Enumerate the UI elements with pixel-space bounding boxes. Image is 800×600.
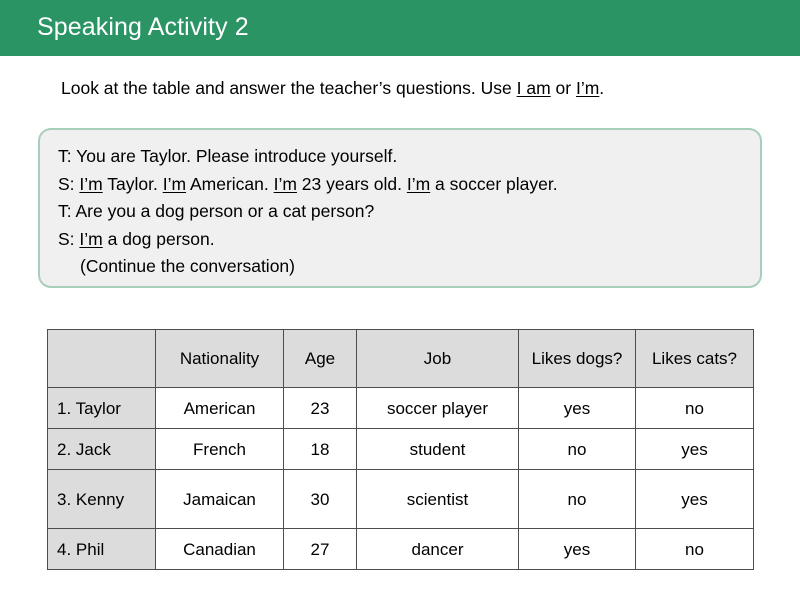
table-cell: scientist [357,470,519,529]
table-cell: yes [636,429,754,470]
dialogue-box: T: You are Taylor. Please introduce your… [38,128,762,288]
table-column-header [48,330,156,388]
table-cell: 23 [284,388,357,429]
dialogue-line: T: Are you a dog person or a cat person? [58,198,558,226]
table-row-label: 4. Phil [48,529,156,570]
dialogue-text: American. [186,174,274,194]
table-body: 1. TaylorAmerican23soccer playeryesno2. … [48,388,754,570]
dialogue-underlined-term: I’m [79,174,102,194]
header-bar: Speaking Activity 2 [0,0,800,56]
table-row: 3. KennyJamaican30scientistnoyes [48,470,754,529]
dialogue-text: S: [58,174,79,194]
table-row-label: 1. Taylor [48,388,156,429]
dialogue-text: T: You are Taylor. Please introduce your… [58,146,397,166]
table-cell: yes [519,529,636,570]
table-cell: 18 [284,429,357,470]
table-row-label: 2. Jack [48,429,156,470]
table-cell: American [156,388,284,429]
table-cell: 30 [284,470,357,529]
page-title: Speaking Activity 2 [37,12,249,42]
table-cell: 27 [284,529,357,570]
dialogue-text: a dog person. [103,229,215,249]
instruction-middle: or [551,78,576,98]
table-column-header: Likes dogs? [519,330,636,388]
table-cell: student [357,429,519,470]
dialogue-underlined-term: I’m [274,174,297,194]
table-cell: no [636,529,754,570]
dialogue-text: (Continue the conversation) [80,256,295,276]
table-cell: yes [519,388,636,429]
instruction-underlined-im: I’m [576,78,599,98]
table-cell: no [519,470,636,529]
dialogue-text: T: Are you a dog person or a cat person? [58,201,374,221]
dialogue-line: S: I’m a dog person. [58,226,558,254]
dialogue-line-list: T: You are Taylor. Please introduce your… [58,143,558,281]
table-cell: soccer player [357,388,519,429]
table-column-header: Nationality [156,330,284,388]
dialogue-text: a soccer player. [430,174,557,194]
dialogue-text: S: [58,229,79,249]
table-cell: yes [636,470,754,529]
dialogue-underlined-term: I’m [407,174,430,194]
dialogue-underlined-term: I’m [163,174,186,194]
table-row: 2. JackFrench18studentnoyes [48,429,754,470]
table-cell: Jamaican [156,470,284,529]
table-header-row: NationalityAgeJobLikes dogs?Likes cats? [48,330,754,388]
dialogue-line: S: I’m Taylor. I’m American. I’m 23 year… [58,171,558,199]
profiles-table: NationalityAgeJobLikes dogs?Likes cats? … [47,329,754,570]
table-cell: no [519,429,636,470]
instruction-suffix: . [599,78,604,98]
dialogue-underlined-term: I’m [79,229,102,249]
table-row: 4. PhilCanadian27danceryesno [48,529,754,570]
table-cell: dancer [357,529,519,570]
table-cell: French [156,429,284,470]
table-cell: Canadian [156,529,284,570]
table-row: 1. TaylorAmerican23soccer playeryesno [48,388,754,429]
instruction-underlined-i-am: I am [517,78,551,98]
table-column-header: Job [357,330,519,388]
instruction-prefix: Look at the table and answer the teacher… [61,78,517,98]
table-column-header: Age [284,330,357,388]
instruction-text: Look at the table and answer the teacher… [61,76,604,100]
table-header: NationalityAgeJobLikes dogs?Likes cats? [48,330,754,388]
dialogue-line: T: You are Taylor. Please introduce your… [58,143,558,171]
table-cell: no [636,388,754,429]
dialogue-text: Taylor. [103,174,163,194]
dialogue-text: 23 years old. [297,174,407,194]
table-row-label: 3. Kenny [48,470,156,529]
dialogue-line: (Continue the conversation) [58,253,558,281]
table-column-header: Likes cats? [636,330,754,388]
